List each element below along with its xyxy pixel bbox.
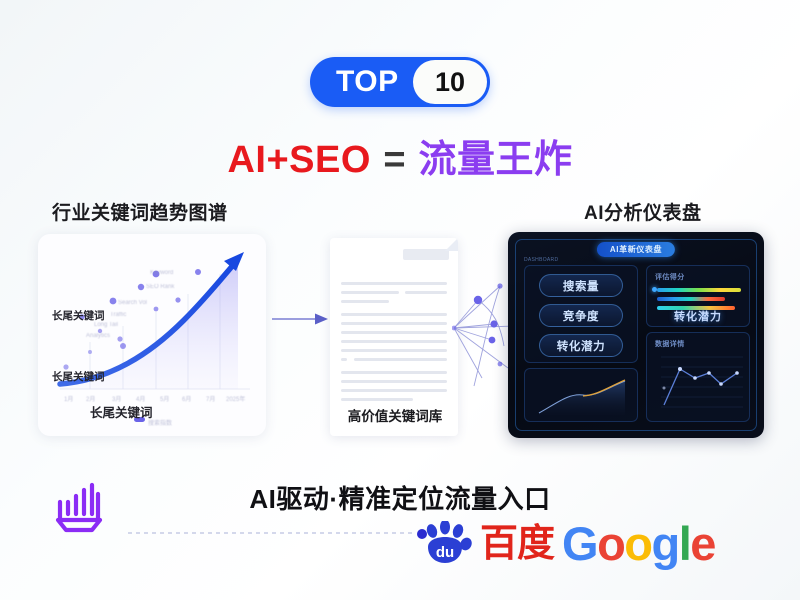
blurred-term-4: Long Tail [94,322,118,328]
headline-right: 流量王炸 [419,139,573,181]
badge-label: TOP [310,67,399,97]
dashboard-title-chip: AI革新仪表盘 [597,242,675,257]
top-rank-badge: TOP 10 [310,57,490,107]
document-caption: 高价值关键词库 [331,405,459,425]
google-logo-text: Google [562,520,715,567]
metric-button-search-volume[interactable]: 搜索量 [539,274,623,297]
bottom-slogan: AI驱动·精准定位流量入口 [0,479,800,516]
axis-tick-5: 6月 [182,394,191,403]
blurred-term-5: Analytics [86,333,110,339]
dashboard-corner-label: DASHBOARD [524,257,558,263]
trend-panel [524,368,638,422]
google-letter-o2: o [624,517,651,570]
doc-header-block [403,249,449,260]
blurred-term-2: Search Vol [118,300,147,306]
baidu-paw-icon: du [420,521,472,567]
svg-text:du: du [436,544,454,561]
google-letter-o1: o [597,517,624,570]
axis-tick-4: 5月 [160,394,169,403]
search-engine-logos: du 百度 Google [420,520,715,567]
axis-tick-2: 3月 [112,394,121,403]
score-panel: 评估得分 转化潜力 [646,265,750,327]
score-highlight-label: 转化潜力 [647,308,749,324]
detail-panel: 数据详情 [646,332,750,422]
badge-number: 10 [413,60,487,104]
google-letter-g1: G [562,517,597,570]
baidu-logo-text: 百度 [480,525,554,563]
section-title-dashboard: AI分析仪表盘 [584,198,702,225]
blurred-term-0: Keyword [150,270,173,276]
chart-legend-label: 搜索指数 [148,418,172,427]
google-letter-e: e [690,517,715,570]
detail-line-chart [647,333,751,423]
axis-tick-6: 7月 [206,394,215,403]
score-panel-title: 评估得分 [655,272,685,282]
blurred-term-1: SEO Rank [146,284,174,290]
trend-label-2: 长尾关键词 [52,369,105,384]
score-gradient-bar-1 [657,288,741,292]
dashed-connector-line [128,527,428,539]
google-letter-l: l [679,517,691,570]
google-letter-g2: g [652,517,679,570]
metric-button-conversion[interactable]: 转化潜力 [539,334,623,357]
flow-arrow-icon [272,312,328,326]
trend-area-chart [525,369,639,423]
trend-chart-card: 长尾关键词 长尾关键词 长尾关键词 Keyword SEO Rank Searc… [38,234,266,436]
trend-label-3: 长尾关键词 [90,402,153,421]
axis-tick-7: 2025年 [226,394,245,403]
axis-tick-0: 1月 [64,394,73,403]
headline-equals: = [383,139,406,181]
headline-left: AI+SEO [227,139,370,181]
score-gradient-bar-2 [657,297,725,301]
metric-button-competition[interactable]: 竞争度 [539,304,623,327]
axis-tick-1: 2月 [86,394,95,403]
trend-label-1: 长尾关键词 [52,308,105,323]
ai-dashboard: AI革新仪表盘 DASHBOARD 搜索量 竞争度 转化潜力 评估得分 转化潜力… [508,232,764,438]
axis-tick-3: 4月 [136,394,145,403]
blurred-term-3: Traffic [110,312,126,318]
metrics-panel: 搜索量 竞争度 转化潜力 [524,265,638,363]
section-title-trend: 行业关键词趋势图谱 [52,198,228,225]
page-title: AI+SEO = 流量王炸 [0,128,800,183]
